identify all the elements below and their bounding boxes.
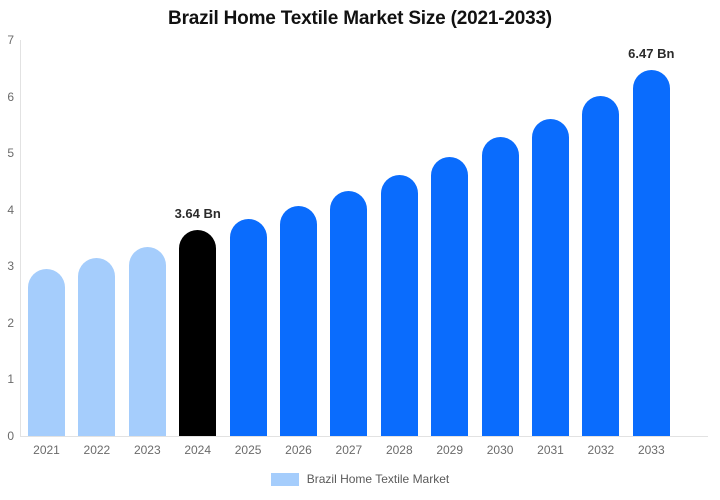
x-axis-tick-label-2033: 2033 [633, 443, 670, 457]
bar-slot [532, 40, 569, 436]
x-axis-tick-label-2021: 2021 [28, 443, 65, 457]
x-axis-tick-label-2028: 2028 [381, 443, 418, 457]
bar-chart: Brazil Home Textile Market Size (2021-20… [0, 0, 720, 500]
bar-2023[interactable] [129, 247, 166, 436]
x-axis-tick-label-2030: 2030 [482, 443, 519, 457]
bar-slot [582, 40, 619, 436]
x-axis-tick-label-2023: 2023 [129, 443, 166, 457]
y-axis-tick-label: 7 [0, 33, 14, 47]
bar-slot [330, 40, 367, 436]
x-axis-tick-label-2024: 2024 [179, 443, 216, 457]
bar-2024[interactable] [179, 230, 216, 436]
bar-slot: 3.64 Bn [179, 40, 216, 436]
bar-2027[interactable] [330, 191, 367, 436]
legend-label-brazil-home-textile-market: Brazil Home Textile Market [307, 472, 450, 486]
legend-swatch-brazil-home-textile-market [271, 473, 299, 486]
x-axis-line [20, 436, 708, 437]
x-axis-tick-label-2029: 2029 [431, 443, 468, 457]
bar-2028[interactable] [381, 175, 418, 436]
bar-2030[interactable] [482, 137, 519, 436]
y-axis-tick-label: 5 [0, 146, 14, 160]
bar-slot [431, 40, 468, 436]
bar-slot [78, 40, 115, 436]
bar-2022[interactable] [78, 258, 115, 436]
bar-slot [381, 40, 418, 436]
plot-area: 3.64 Bn6.47 Bn [20, 40, 708, 436]
x-axis-tick-label-2022: 2022 [78, 443, 115, 457]
bar-slot [230, 40, 267, 436]
bar-value-label-2033: 6.47 Bn [628, 46, 674, 61]
x-axis-tick-label-2032: 2032 [582, 443, 619, 457]
chart-title: Brazil Home Textile Market Size (2021-20… [0, 8, 720, 30]
bar-2025[interactable] [230, 219, 267, 436]
bar-2021[interactable] [28, 269, 65, 436]
x-axis-tick-label-2026: 2026 [280, 443, 317, 457]
y-axis-tick-label: 0 [0, 429, 14, 443]
bar-slot [28, 40, 65, 436]
bar-2031[interactable] [532, 119, 569, 436]
bar-slot [129, 40, 166, 436]
x-axis-tick-label-2027: 2027 [330, 443, 367, 457]
x-axis-tick-label-2031: 2031 [532, 443, 569, 457]
y-axis-tick-label: 4 [0, 203, 14, 217]
y-axis-tick-label: 3 [0, 259, 14, 273]
bar-2032[interactable] [582, 96, 619, 436]
bar-slot [482, 40, 519, 436]
bar-value-label-2024: 3.64 Bn [175, 206, 221, 221]
y-axis-tick-label: 6 [0, 90, 14, 104]
y-axis-tick-label: 1 [0, 372, 14, 386]
bar-2033[interactable] [633, 70, 670, 436]
bar-slot: 6.47 Bn [633, 40, 670, 436]
y-axis-tick-label: 2 [0, 316, 14, 330]
bar-2026[interactable] [280, 206, 317, 436]
bar-2029[interactable] [431, 157, 468, 436]
chart-legend: Brazil Home Textile Market [0, 472, 720, 486]
bar-slot [280, 40, 317, 436]
x-axis-tick-label-2025: 2025 [230, 443, 267, 457]
